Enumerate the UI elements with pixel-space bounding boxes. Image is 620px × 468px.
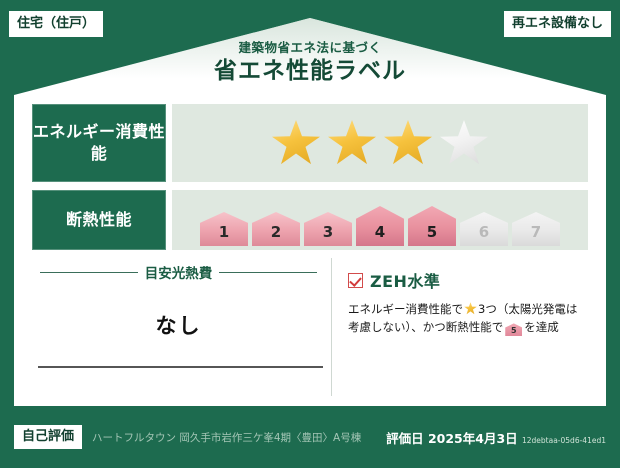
renewable-energy-tag: 再エネ設備なし	[503, 10, 612, 38]
insulation-grade-scale: 1 2 3 4 5 6 7	[200, 190, 560, 250]
building-type-tag: 住宅（住戸）	[8, 10, 104, 38]
utility-cost-heading: 目安光熱費	[36, 262, 321, 282]
energy-performance-label-text: エネルギー消費性能	[32, 104, 166, 182]
zeh-desc-part2: 3つ（太陽光発電	[478, 302, 566, 316]
utility-cost-panel: 目安光熱費 なし	[32, 258, 332, 396]
star-filled-1	[271, 119, 321, 167]
evaluation-id: 12debtaa-05d6-41ed1	[522, 436, 606, 445]
insulation-performance-row: 断熱性能 1 2 3 4 5 6 7	[32, 190, 588, 250]
energy-performance-value	[172, 104, 588, 182]
self-evaluation-badge: 自己評価	[14, 425, 82, 449]
label-footer: 自己評価 ハートフルタウン 岡久手市岩作三ケ峯4期〈豊田〉A号棟 評価日 202…	[0, 406, 620, 468]
zeh-panel: ZEH水準 エネルギー消費性能で3つ（太陽光発電は考慮しない）、かつ断熱性能で5…	[332, 258, 588, 396]
insulation-badge-7: 7	[512, 212, 560, 246]
property-address: ハートフルタウン 岡久手市岩作三ケ峯4期〈豊田〉A号棟	[92, 430, 361, 445]
energy-performance-label: 住宅（住戸） 再エネ設備なし 建築物省エネ法に基づく 省エネ性能ラベル エネルギ…	[0, 0, 620, 468]
insulation-performance-label-text: 断熱性能	[32, 190, 166, 250]
insulation-badge-5: 5	[408, 206, 456, 246]
insulation-badge-4: 4	[356, 206, 404, 246]
zeh-description: エネルギー消費性能で3つ（太陽光発電は考慮しない）、かつ断熱性能で5を達成	[348, 300, 584, 337]
energy-performance-row: エネルギー消費性能	[32, 104, 588, 182]
utility-cost-underline	[38, 366, 323, 368]
evaluation-date: 評価日 2025年4月3日	[386, 431, 522, 446]
insulation-badge-3: 3	[304, 212, 352, 246]
rule-left	[40, 272, 138, 273]
evaluation-date-block: 評価日 2025年4月3日 12debtaa-05d6-41ed1	[386, 428, 606, 447]
mini-star-icon	[464, 302, 477, 315]
star-filled-3	[383, 119, 433, 167]
title-subtitle: 建築物省エネ法に基づく	[0, 40, 620, 55]
zeh-heading: ZEH水準	[348, 268, 584, 292]
star-empty-4	[439, 119, 489, 167]
insulation-badge-6: 6	[460, 212, 508, 246]
check-icon	[348, 273, 363, 288]
evaluation-date-label: 評価日	[386, 431, 424, 446]
star-rating	[271, 119, 489, 167]
lower-section: 目安光熱費 なし ZEH水準 エネルギー消費性能で3つ（太陽光発電は考慮しない）…	[32, 258, 588, 396]
page-title: 省エネ性能ラベル	[0, 58, 620, 84]
utility-cost-value: なし	[36, 310, 321, 340]
title-block: 建築物省エネ法に基づく 省エネ性能ラベル	[0, 40, 620, 84]
insulation-performance-value: 1 2 3 4 5 6 7	[172, 190, 588, 250]
utility-cost-heading-text: 目安光熱費	[145, 262, 213, 282]
evaluation-date-value: 2025年4月3日	[428, 431, 518, 446]
star-filled-2	[327, 119, 377, 167]
rule-right	[219, 272, 317, 273]
insulation-badge-2: 2	[252, 212, 300, 246]
zeh-desc-part4: を達成	[524, 320, 559, 334]
mini-insulation-badge-icon: 5	[505, 323, 522, 336]
zeh-desc-part1: エネルギー消費性能で	[348, 302, 463, 316]
label-body: エネルギー消費性能 断熱性能 1 2 3 4 5 6	[14, 96, 606, 406]
zeh-title-text: ZEH水準	[370, 268, 440, 292]
insulation-badge-1: 1	[200, 212, 248, 246]
